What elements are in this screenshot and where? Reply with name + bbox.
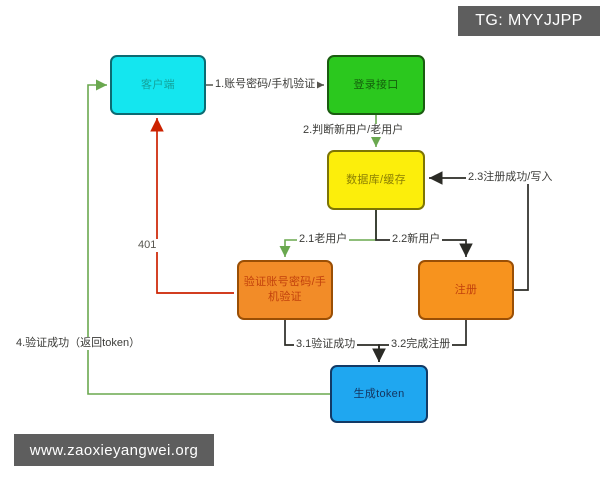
node-verify-credentials[interactable]: 验证账号密码/手机验证 (237, 260, 333, 320)
watermark-site: www.zaoxieyangwei.org (14, 434, 214, 466)
node-client-label: 客户端 (141, 78, 175, 93)
edge-label-3-1: 3.1验证成功 (294, 338, 357, 351)
watermark-site-text: www.zaoxieyangwei.org (30, 442, 198, 459)
edge-label-2-1: 2.1老用户 (297, 233, 349, 246)
edge-label-1: 1.账号密码/手机验证 (213, 78, 317, 91)
node-register[interactable]: 注册 (418, 260, 514, 320)
node-verify-label: 验证账号密码/手机验证 (239, 275, 331, 305)
node-register-label: 注册 (455, 283, 478, 298)
edge-label-4: 4.验证成功（返回token） (14, 337, 142, 350)
node-login-interface[interactable]: 登录接口 (327, 55, 425, 115)
flowchart-canvas: 客户端 登录接口 数据库/缓存 验证账号密码/手机验证 注册 生成token 1… (0, 0, 600, 480)
node-client[interactable]: 客户端 (110, 55, 206, 115)
edge-label-2-2: 2.2新用户 (390, 233, 442, 246)
edge-label-3-2: 3.2完成注册 (389, 338, 452, 351)
node-login-label: 登录接口 (353, 78, 398, 93)
node-database-cache[interactable]: 数据库/缓存 (327, 150, 425, 210)
watermark-telegram-text: TG: MYYJJPP (475, 12, 583, 30)
edge-label-401: 401 (136, 239, 158, 252)
node-generate-token[interactable]: 生成token (330, 365, 428, 423)
watermark-telegram: TG: MYYJJPP (458, 6, 600, 36)
node-token-label: 生成token (353, 387, 404, 402)
edge-401-verify-to-client (157, 118, 234, 293)
edge-label-2: 2.判断新用户/老用户 (301, 124, 405, 137)
node-db-label: 数据库/缓存 (346, 173, 406, 188)
edge-label-2-3: 2.3注册成功/写入 (466, 171, 554, 184)
